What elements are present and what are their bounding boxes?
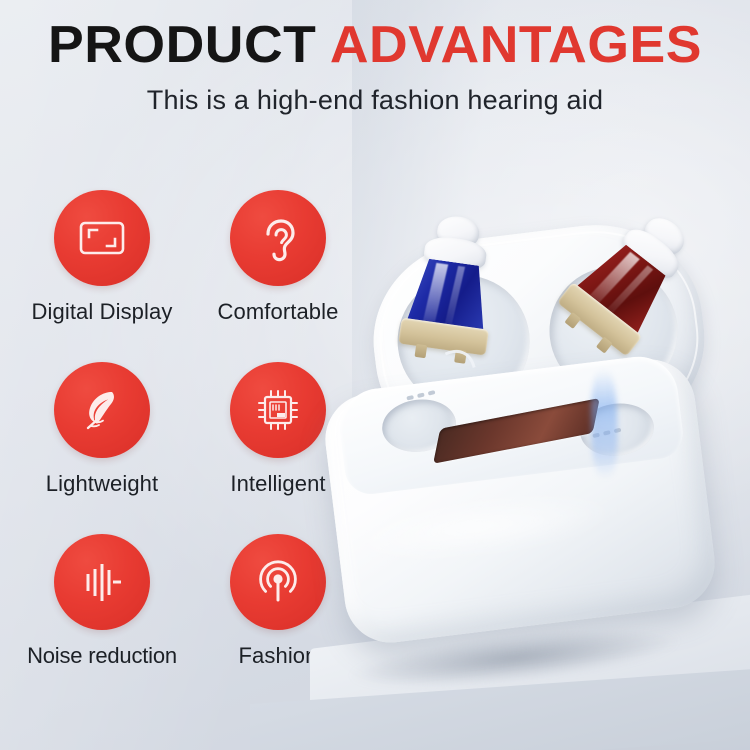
feature-label: Lightweight bbox=[46, 471, 158, 497]
page-title: PRODUCT ADVANTAGES bbox=[0, 16, 750, 74]
feature-label: Comfortable bbox=[218, 299, 339, 325]
feature-label: Intelligent bbox=[230, 471, 325, 497]
feature-label: Fashion bbox=[239, 643, 318, 669]
product-image bbox=[330, 180, 750, 740]
feature-icon-badge bbox=[54, 534, 150, 630]
feature-item-noise-reduction: Noise reduction bbox=[14, 534, 190, 706]
feature-icon-badge bbox=[230, 190, 326, 286]
feature-label: Digital Display bbox=[32, 299, 173, 325]
aid-gloss-highlight-secondary bbox=[444, 265, 464, 324]
charging-case-base bbox=[320, 354, 720, 647]
sound-wave-icon bbox=[76, 556, 128, 608]
product-advantages-poster: PRODUCT ADVANTAGES This is a high-end fa… bbox=[0, 0, 750, 750]
chip-icon bbox=[252, 384, 304, 436]
feature-grid: Digital Display Comfortable Lightwei bbox=[14, 190, 366, 706]
ear-icon bbox=[252, 212, 304, 264]
broadcast-signal-icon bbox=[252, 556, 304, 608]
feature-item-lightweight: Lightweight bbox=[14, 362, 190, 534]
feature-icon-badge bbox=[230, 534, 326, 630]
case-body-highlight bbox=[356, 477, 662, 583]
aid-gloss-highlight bbox=[423, 262, 449, 322]
title-word-advantages: ADVANTAGES bbox=[330, 16, 702, 74]
feature-icon-badge bbox=[230, 362, 326, 458]
page-subtitle: This is a high-end fashion hearing aid bbox=[0, 84, 750, 116]
hearing-aid-blue bbox=[390, 210, 510, 372]
feature-label: Noise reduction bbox=[27, 643, 177, 669]
digital-display-icon bbox=[76, 212, 128, 264]
feature-icon-badge bbox=[54, 362, 150, 458]
title-word-product: PRODUCT bbox=[48, 16, 316, 74]
aid-gloss-highlight bbox=[590, 251, 640, 302]
feather-icon bbox=[75, 383, 129, 437]
feature-item-digital-display: Digital Display bbox=[14, 190, 190, 362]
poster-header: PRODUCT ADVANTAGES This is a high-end fa… bbox=[0, 16, 750, 116]
blue-charging-glow bbox=[590, 369, 618, 479]
aid-contact-pin bbox=[415, 344, 428, 358]
feature-icon-badge bbox=[54, 190, 150, 286]
